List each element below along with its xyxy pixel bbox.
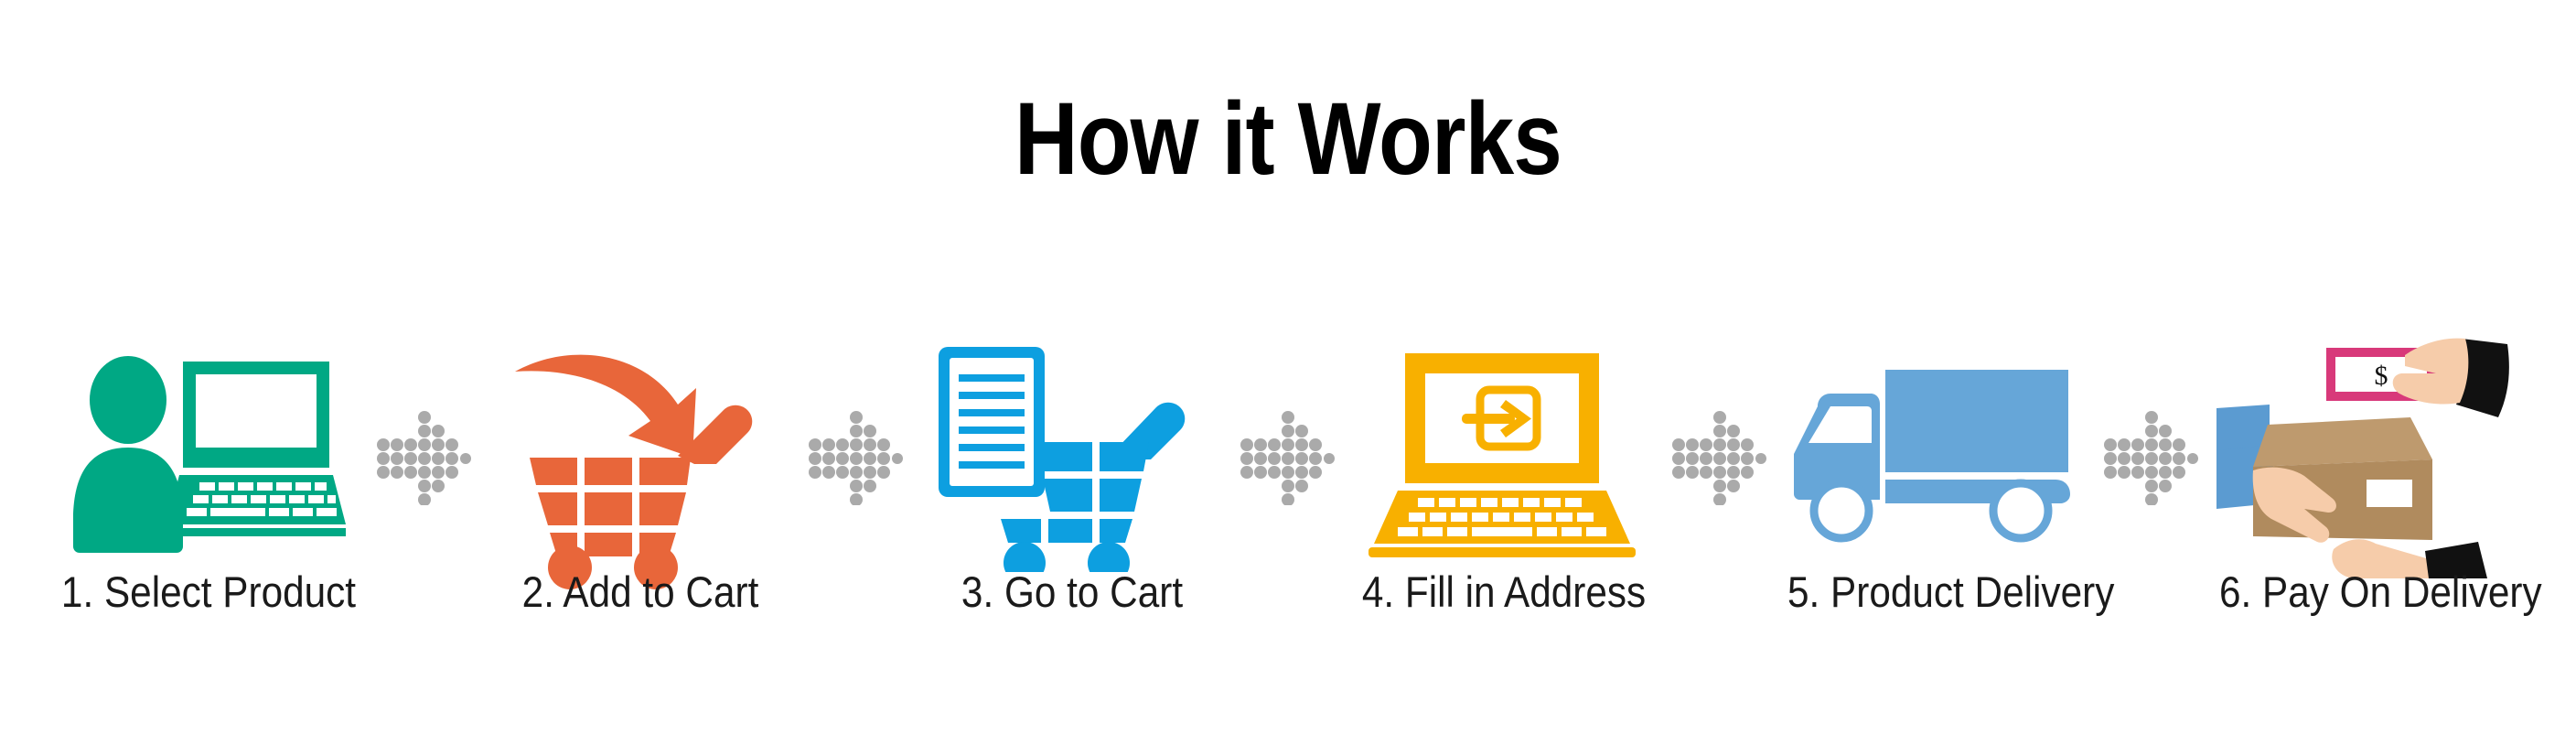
step-2-label: 2. Add to Cart xyxy=(492,569,789,616)
how-it-works-infographic: How it Works xyxy=(0,0,2576,745)
hands-box-money-icon: $ xyxy=(2216,333,2518,582)
delivery-truck-icon xyxy=(1794,366,2077,549)
page-title: How it Works xyxy=(180,88,2396,190)
step-2-icon-group xyxy=(476,320,805,595)
step-1-icon-group xyxy=(44,320,373,595)
dotted-arrow-right-icon xyxy=(809,410,904,505)
svg-text:$: $ xyxy=(2375,361,2388,391)
separator-arrow-4 xyxy=(1669,403,1771,513)
document-cart-icon xyxy=(935,343,1209,572)
step-3-label: 3. Go to Cart xyxy=(924,569,1220,616)
cart-with-arrow-icon xyxy=(508,348,773,567)
dotted-arrow-right-icon xyxy=(377,410,472,505)
separator-arrow-5 xyxy=(2100,403,2203,513)
laptop-login-icon xyxy=(1367,348,1641,567)
step-4-label: 4. Fill in Address xyxy=(1356,569,1652,616)
step-6-icon-group: $ xyxy=(2203,320,2532,595)
separator-arrow-1 xyxy=(373,403,476,513)
step-labels-row: 1. Select Product 2. Add to Cart 3. Go t… xyxy=(0,569,2576,642)
dotted-arrow-right-icon xyxy=(1240,410,1336,505)
person-laptop-icon xyxy=(71,352,346,563)
dotted-arrow-right-icon xyxy=(2104,410,2199,505)
step-5-label: 5. Product Delivery xyxy=(1787,569,2084,616)
separator-arrow-2 xyxy=(805,403,907,513)
dotted-arrow-right-icon xyxy=(1672,410,1767,505)
step-6-label: 6. Pay On Delivery xyxy=(2219,569,2516,616)
step-4-icon-group xyxy=(1339,320,1669,595)
step-1-label: 1. Select Product xyxy=(60,569,357,616)
step-3-icon-group xyxy=(907,320,1237,595)
steps-flow: $ xyxy=(0,302,2576,613)
separator-arrow-3 xyxy=(1237,403,1339,513)
step-5-icon-group xyxy=(1771,320,2100,595)
